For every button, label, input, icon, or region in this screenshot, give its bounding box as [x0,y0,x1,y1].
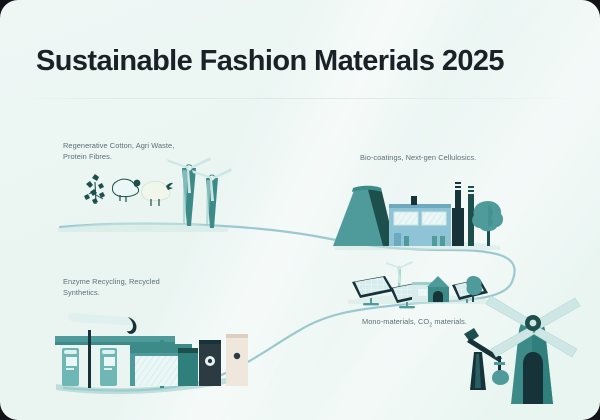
sheep-icon [142,181,173,206]
fuel-pump-icon [100,348,117,386]
wind-turbine-icon [192,168,232,228]
pumpjack-icon [464,328,509,390]
fuel-pump-icon [62,348,79,386]
cooling-tower-icon [333,186,395,246]
smokestack-icon [452,182,474,246]
store-icon [130,344,198,386]
recycling-bin-icon [226,334,248,386]
infographic-card: Sustainable Fashion Materials 2025 Regen… [0,0,600,420]
factory-building-icon [389,196,451,246]
scene-factory [333,182,503,250]
scene-solar-farm [348,261,488,308]
recycling-bin-icon [199,340,221,386]
scene-farm [58,157,232,232]
scene-windmill [464,296,580,404]
tree-icon [472,201,503,246]
cotton-plant-icon [84,174,105,204]
sheep-icon [112,179,140,202]
illustration-layer [0,0,600,420]
scene-fuel-station [55,313,248,394]
wind-turbine-icon [167,157,211,226]
barn-house-icon [412,276,449,302]
windmill-icon [486,296,580,404]
